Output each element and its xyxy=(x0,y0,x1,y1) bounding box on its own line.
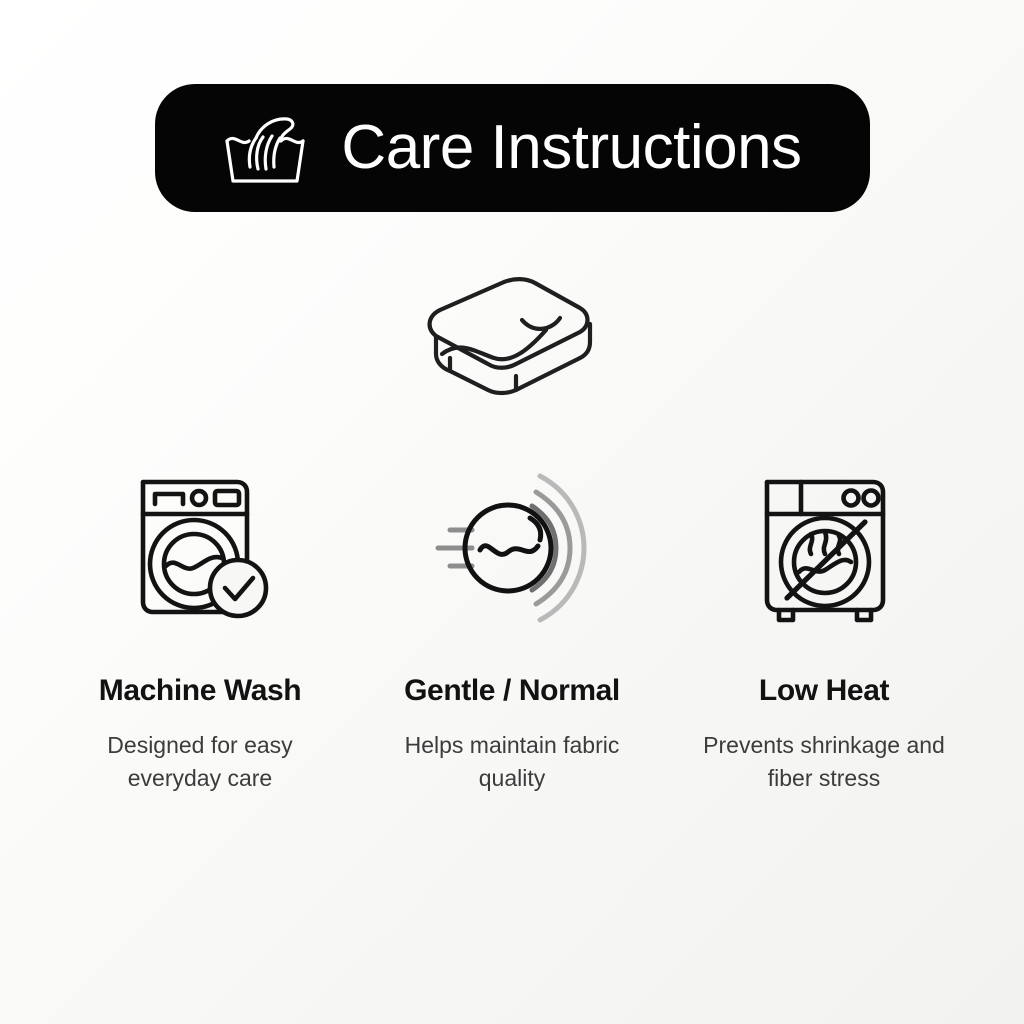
card-description: Helps maintain fabric quality xyxy=(372,729,652,796)
folded-fabric-icon xyxy=(412,272,612,408)
dryer-no-high-heat-icon xyxy=(749,470,899,630)
care-instructions-page: Care Instructions xyxy=(0,0,1024,1024)
washing-machine-check-icon xyxy=(125,470,275,630)
hand-wash-tub-icon xyxy=(217,107,313,189)
page-title: Care Instructions xyxy=(341,117,801,179)
card-description: Prevents shrinkage and fiber stress xyxy=(684,729,964,796)
gentle-cycle-motion-icon xyxy=(432,470,592,630)
card-icon-container xyxy=(125,470,275,630)
care-card-machine-wash[interactable]: Machine Wash Designed for easy everyday … xyxy=(44,470,356,796)
card-title: Machine Wash xyxy=(99,674,301,707)
card-icon-container xyxy=(432,470,592,630)
hero-icon-container xyxy=(0,272,1024,408)
care-card-gentle-normal[interactable]: Gentle / Normal Helps maintain fabric qu… xyxy=(356,470,668,796)
card-title: Gentle / Normal xyxy=(404,674,620,707)
card-icon-container xyxy=(749,470,899,630)
card-description: Designed for easy everyday care xyxy=(60,729,340,796)
card-title: Low Heat xyxy=(759,674,889,707)
header-badge: Care Instructions xyxy=(155,84,870,212)
care-cards-row: Machine Wash Designed for easy everyday … xyxy=(44,470,980,796)
care-card-low-heat[interactable]: Low Heat Prevents shrinkage and fiber st… xyxy=(668,470,980,796)
